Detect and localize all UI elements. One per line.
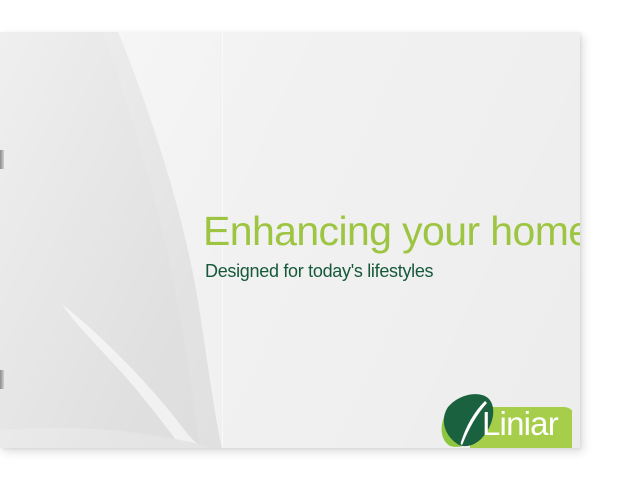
liniar-logo: Liniar [436, 390, 572, 448]
brochure-cover-card: Enhancing your home Designed for today's… [0, 32, 580, 448]
page-stage: Enhancing your home Designed for today's… [0, 0, 620, 479]
spine-tick-bottom [0, 370, 4, 389]
liniar-wordmark: Liniar [482, 407, 558, 441]
cover-title-block: Enhancing your home Designed for today's… [203, 208, 573, 282]
spine-tick-top [0, 150, 4, 169]
cover-headline: Enhancing your home [203, 208, 573, 254]
cover-subhead: Designed for today's lifestyles [205, 260, 573, 282]
